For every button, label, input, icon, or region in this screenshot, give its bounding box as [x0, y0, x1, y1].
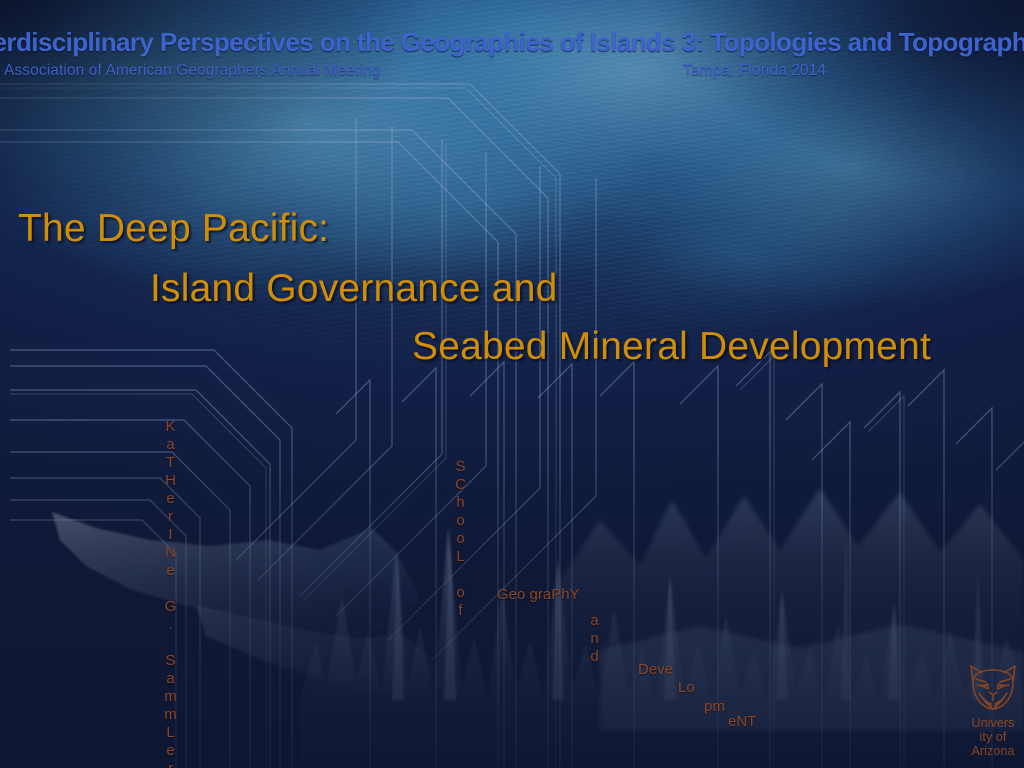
affiliation-conjunction: and	[584, 612, 604, 666]
conference-location: Tampa, Florida 2014	[683, 62, 826, 80]
development-word-part-3: pm	[704, 698, 725, 715]
conference-organization: Association of American Geographers Annu…	[4, 62, 380, 80]
university-name-line-3: Arizona	[962, 744, 1024, 758]
wildcat-icon	[965, 662, 1021, 714]
presentation-slide: Interdisciplinary Perspectives on the Ge…	[0, 0, 1024, 768]
development-word-part-1: Deve	[638, 661, 673, 678]
development-word-part-4: eNT	[728, 713, 756, 730]
slide-title-line-3: Seabed Mineral Development	[412, 325, 931, 369]
university-name: Univers ity of Arizona	[962, 716, 1024, 758]
vignette-overlay	[0, 0, 1024, 768]
slide-title-line-2: Island Governance and	[150, 267, 557, 311]
university-logo: Univers ity of Arizona	[962, 662, 1024, 766]
slide-title-line-1: The Deep Pacific:	[18, 207, 329, 251]
affiliation-department: Geo graPhY	[497, 586, 580, 603]
university-name-line-2: ity of	[962, 730, 1024, 744]
conference-title: Interdisciplinary Perspectives on the Ge…	[0, 27, 1024, 58]
author-name: KaTHerINe G. SammLer	[160, 418, 180, 768]
development-word-part-2: Lo	[678, 679, 695, 696]
affiliation-school: SChooL of	[450, 458, 470, 620]
university-name-line-1: Univers	[962, 716, 1024, 730]
